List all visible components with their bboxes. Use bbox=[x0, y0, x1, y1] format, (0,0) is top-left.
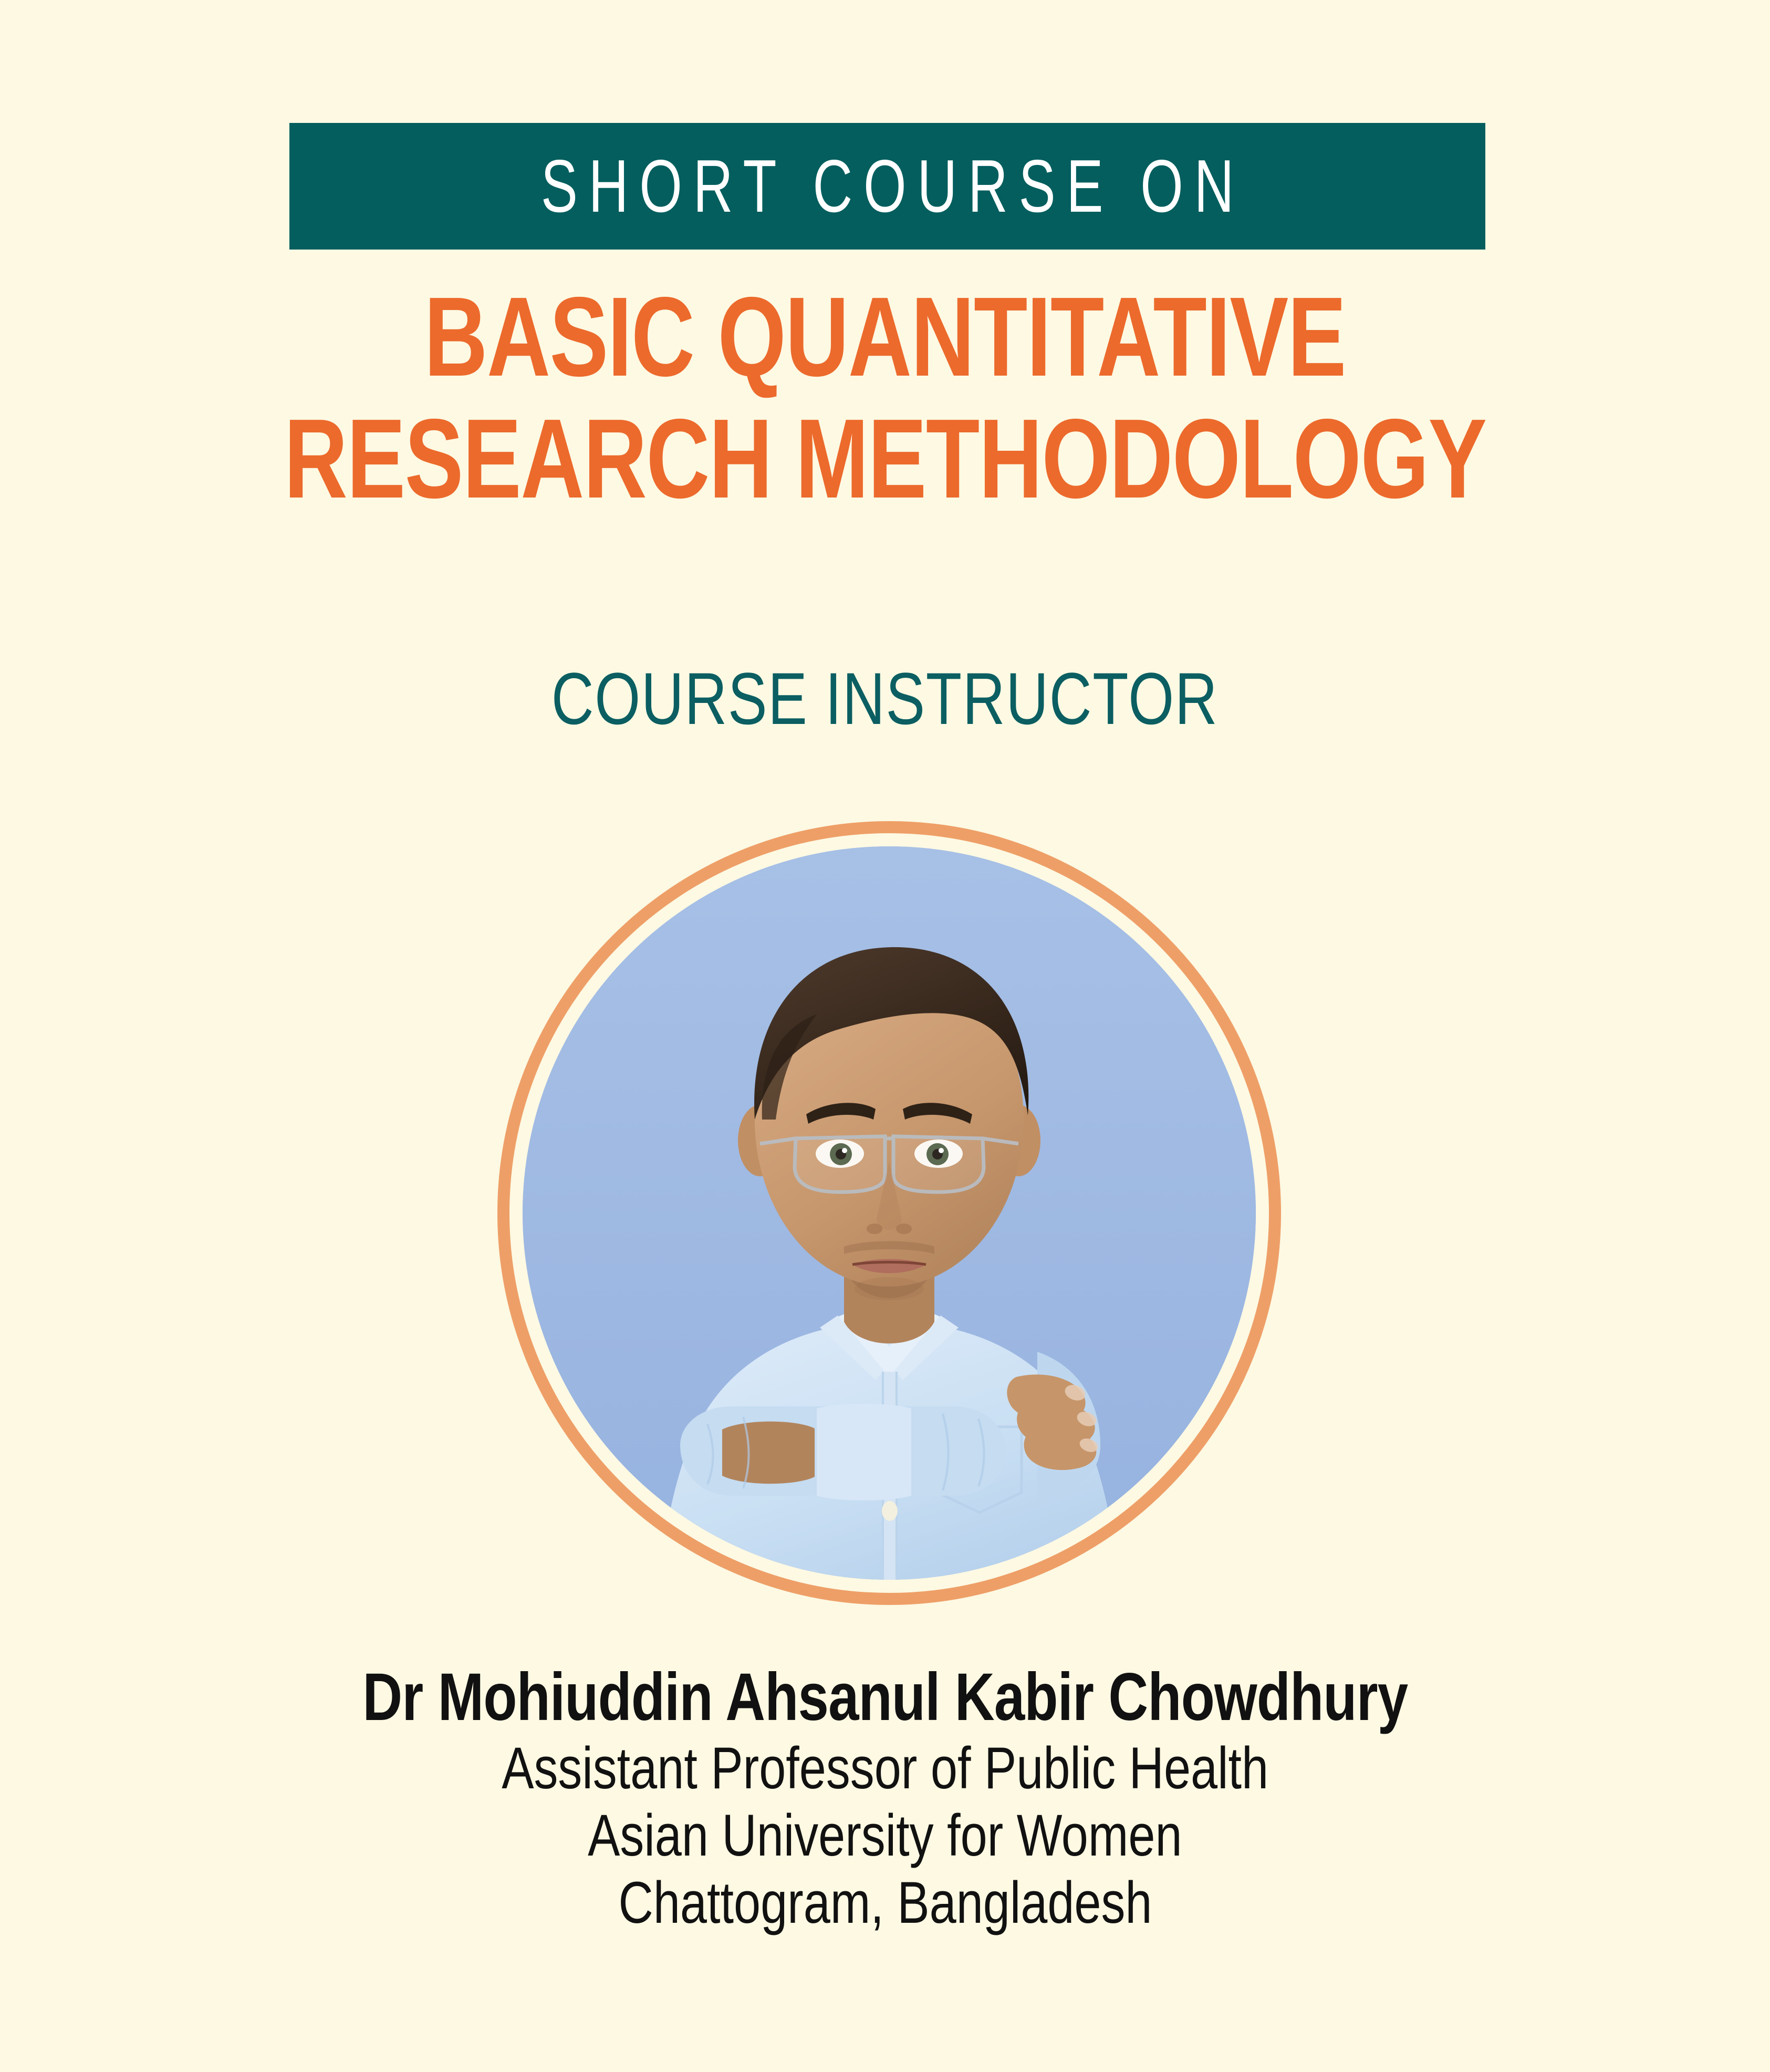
course-title-line-1-text: BASIC QUANTITATIVE bbox=[424, 276, 1346, 398]
instructor-name: Dr Mohiuddin Ahsanul Kabir Chowdhury bbox=[0, 1660, 1770, 1735]
instructor-title-text: Assistant Professor of Public Health bbox=[502, 1735, 1268, 1802]
course-title-line-2-text: RESEARCH METHODOLOGY bbox=[284, 398, 1486, 520]
instructor-location-text: Chattogram, Bangladesh bbox=[618, 1869, 1152, 1936]
banner-label: SHORT COURSE ON bbox=[530, 149, 1245, 224]
course-title: BASIC QUANTITATIVE RESEARCH METHODOLOGY bbox=[0, 276, 1770, 520]
instructor-title: Assistant Professor of Public Health bbox=[0, 1735, 1770, 1802]
course-instructor-heading: COURSE INSTRUCTOR bbox=[0, 659, 1770, 738]
instructor-portrait bbox=[497, 821, 1281, 1605]
course-poster: SHORT COURSE ON BASIC QUANTITATIVE RESEA… bbox=[0, 0, 1770, 2072]
instructor-location: Chattogram, Bangladesh bbox=[0, 1869, 1770, 1936]
instructor-institution-text: Asian University for Women bbox=[588, 1802, 1182, 1869]
course-title-line-2: RESEARCH METHODOLOGY bbox=[0, 398, 1770, 520]
course-instructor-heading-text: COURSE INSTRUCTOR bbox=[551, 659, 1219, 738]
instructor-credits: Dr Mohiuddin Ahsanul Kabir Chowdhury Ass… bbox=[0, 1660, 1770, 1936]
instructor-institution: Asian University for Women bbox=[0, 1802, 1770, 1869]
portrait-ring bbox=[497, 821, 1281, 1605]
short-course-banner: SHORT COURSE ON bbox=[289, 123, 1485, 250]
course-title-line-1: BASIC QUANTITATIVE bbox=[0, 276, 1770, 398]
instructor-name-text: Dr Mohiuddin Ahsanul Kabir Chowdhury bbox=[362, 1660, 1408, 1735]
